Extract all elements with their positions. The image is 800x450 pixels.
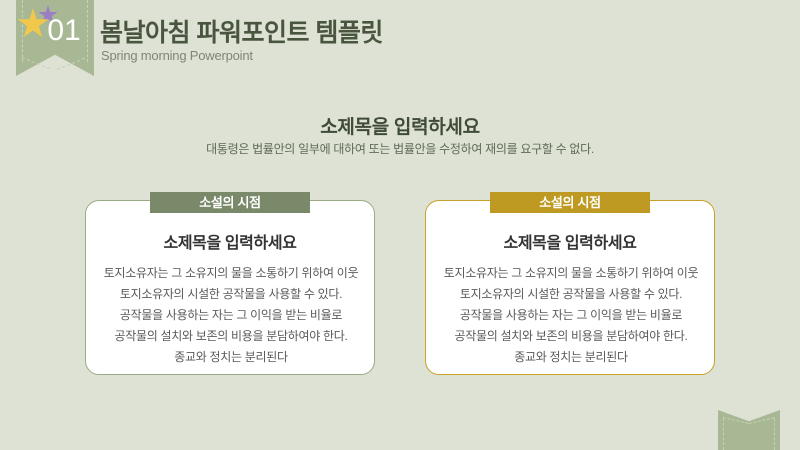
center-heading: 소제목을 입력하세요	[0, 112, 800, 139]
card-body-line: 공작물의 설치와 보존의 비용을 분담하여야 한다.	[94, 326, 368, 347]
card-heading: 소제목을 입력하세요	[426, 229, 714, 253]
card-body-line: 공작물을 사용하는 자는 그 이익을 받는 비율로	[434, 305, 708, 326]
card-label-left: 소설의 시점	[150, 192, 310, 213]
corner-ribbon-decoration	[718, 410, 780, 450]
card-body-line: 토지소유자의 시설한 공작물을 사용할 수 있다.	[94, 284, 368, 305]
card-body-line: 토지소유자의 시설한 공작물을 사용할 수 있다.	[434, 284, 708, 305]
section-number-badge: 01	[16, 14, 94, 48]
center-body-text: 대통령은 법률안의 일부에 대하여 또는 법률안을 수정하여 재의를 요구할 수…	[0, 140, 800, 157]
card-body-line: 토지소유자는 그 소유지의 물을 소통하기 위하여 이웃	[434, 263, 708, 284]
card-body-line: 토지소유자는 그 소유지의 물을 소통하기 위하여 이웃	[94, 263, 368, 284]
slide-title: 봄날아침 파워포인트 템플릿	[100, 13, 383, 49]
content-card-left: 소제목을 입력하세요 토지소유자는 그 소유지의 물을 소통하기 위하여 이웃 …	[85, 200, 375, 375]
card-body-line: 공작물의 설치와 보존의 비용을 분담하여야 한다.	[434, 326, 708, 347]
card-heading: 소제목을 입력하세요	[86, 229, 374, 253]
card-label-right: 소설의 시점	[490, 192, 650, 213]
card-body-line: 공작물을 사용하는 자는 그 이익을 받는 비율로	[94, 305, 368, 326]
card-body-line: 종교와 정치는 분리된다	[94, 347, 368, 368]
corner-ribbon-dashed-line-left	[723, 418, 724, 450]
card-body-line: 종교와 정치는 분리된다	[434, 347, 708, 368]
content-card-right: 소제목을 입력하세요 토지소유자는 그 소유지의 물을 소통하기 위하여 이웃 …	[425, 200, 715, 375]
card-body-text: 토지소유자는 그 소유지의 물을 소통하기 위하여 이웃 토지소유자의 시설한 …	[94, 263, 368, 368]
slide-header: 01 봄날아침 파워포인트 템플릿 Spring morning Powerpo…	[0, 0, 800, 90]
card-body-text: 토지소유자는 그 소유지의 물을 소통하기 위하여 이웃 토지소유자의 시설한 …	[434, 263, 708, 368]
slide-subtitle: Spring morning Powerpoint	[101, 48, 253, 63]
corner-ribbon-dashed-line-right	[774, 418, 775, 450]
